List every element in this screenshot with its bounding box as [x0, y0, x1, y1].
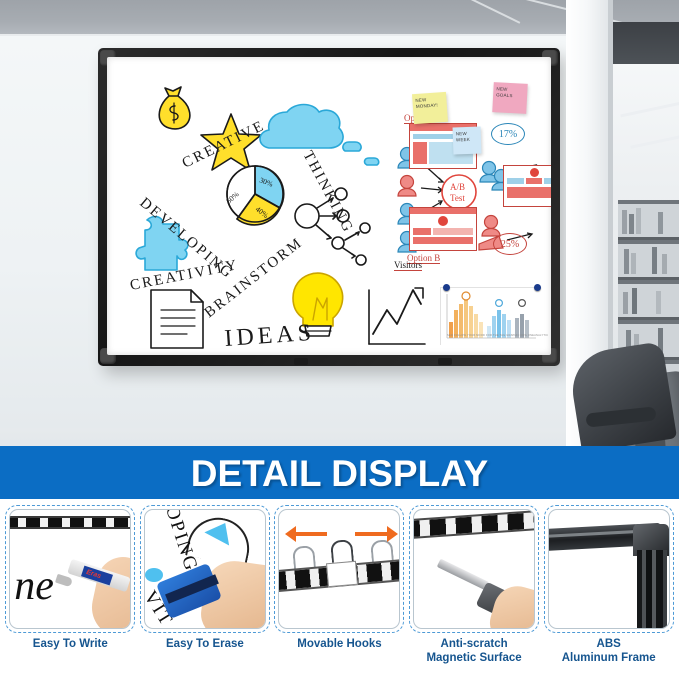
panel-label-easy-to-erase: Easy To Erase — [166, 638, 244, 652]
whiteboard-rail — [9, 516, 131, 529]
whiteboard-rail — [413, 509, 535, 539]
panel-frame: OPING VIT — [140, 505, 270, 633]
key-shaft — [437, 559, 489, 591]
panel-label-easy-to-write: Easy To Write — [33, 638, 108, 652]
arrow-left-head-icon — [285, 526, 296, 542]
doodle-word-brainstorm: BRAINSTORM — [202, 235, 306, 322]
detail-display-banner: DETAIL DISPLAY — [0, 446, 679, 502]
ceiling-light — [620, 102, 679, 118]
feature-panel-movable-hooks[interactable]: Movable Hooks — [273, 505, 406, 677]
panel-label-abs-frame: ABS Aluminum Frame — [562, 638, 656, 665]
poster-caption: SEO FOLLOW YOUR MOOD FOR THE TAG GRAPHIC… — [447, 334, 548, 337]
banner-underline — [0, 499, 679, 502]
panel-frame — [274, 505, 404, 633]
panel-frame — [544, 505, 674, 633]
shelf-row — [618, 204, 679, 240]
feature-panel-easy-to-write[interactable]: ne Eras Easy To Write — [4, 505, 137, 677]
panel-frame: ne Eras — [5, 505, 135, 633]
sticky-note-week: NEW WEEK — [453, 127, 482, 155]
hook-clip — [326, 561, 358, 588]
panel-label-line-2: Magnetic Surface — [426, 652, 521, 666]
doodle-word-thinking: THINKING — [299, 148, 356, 236]
ab-test-label-top: A/B — [450, 182, 465, 192]
written-sample-text: ne — [14, 562, 54, 610]
panel-label-movable-hooks: Movable Hooks — [297, 638, 381, 652]
whiteboard: CREATIVE THINKING DEVELOPING CREATIVITY … — [98, 48, 560, 366]
magnet — [534, 284, 541, 291]
shelf-row — [618, 284, 679, 320]
movable-hook[interactable] — [438, 358, 452, 365]
marker-tip — [55, 574, 73, 588]
sticky-note-goals: NEW GOALS — [492, 82, 528, 114]
frame-side-profile — [637, 550, 667, 629]
feature-panel-easy-to-erase[interactable]: OPING VIT Easy To Erase — [139, 505, 272, 677]
sticky-note-monday: NEW MONDAY! — [412, 92, 448, 124]
feature-panel-anti-scratch[interactable]: Anti-scratch Magnetic Surface — [408, 505, 541, 677]
panel-image-hooks — [278, 509, 400, 629]
feature-panels: ne Eras Easy To Write OPING VIT — [0, 505, 679, 677]
panel-label-line-2: Aluminum Frame — [562, 652, 656, 666]
hero-product-scene: CREATIVE THINKING DEVELOPING CREATIVITY … — [0, 0, 679, 446]
panel-label-anti-scratch: Anti-scratch Magnetic Surface — [426, 638, 521, 665]
panel-label-line-1: ABS — [562, 638, 656, 652]
panel-image-abs-frame — [548, 509, 670, 629]
panel-image-anti-scratch — [413, 509, 535, 629]
hook-ghost — [293, 545, 317, 569]
shelf-row — [618, 244, 679, 280]
wall-floor-shadow — [0, 428, 586, 446]
winner-card — [503, 165, 551, 207]
panel-image-erase: OPING VIT — [144, 509, 266, 629]
ab-test-label-bottom: Test — [450, 193, 465, 203]
panel-label-line-1: Anti-scratch — [426, 638, 521, 652]
doodle-blob — [145, 568, 163, 582]
ceiling-light — [630, 134, 679, 149]
arrow-right-head-icon — [387, 526, 398, 542]
banner-title: DETAIL DISPLAY — [191, 453, 488, 495]
whiteboard-surface: CREATIVE THINKING DEVELOPING CREATIVITY … — [107, 57, 551, 355]
option-a-result-badge: 17% — [491, 123, 525, 145]
visitors-label: Visitors — [394, 260, 422, 271]
hook-active — [331, 539, 355, 563]
ceiling-panel-line — [340, 0, 521, 24]
arrow-right-icon — [355, 532, 389, 536]
doodle-word-ideas: IDEAS — [224, 320, 316, 352]
option-b-card — [409, 207, 477, 251]
panel-frame — [409, 505, 539, 633]
movable-hook[interactable] — [294, 358, 308, 365]
magnet — [443, 284, 450, 291]
arrow-left-icon — [293, 532, 327, 536]
feature-panel-abs-frame[interactable]: ABS Aluminum Frame — [542, 505, 675, 677]
option-b-result-badge: 25% — [493, 233, 527, 255]
panel-image-write: ne Eras — [9, 509, 131, 629]
